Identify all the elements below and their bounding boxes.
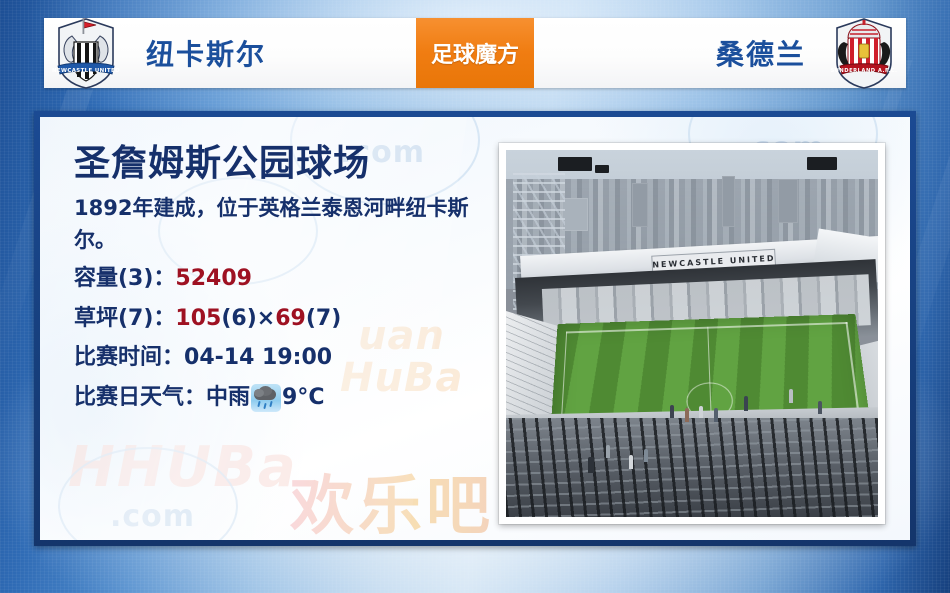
photo-spectator xyxy=(818,401,822,414)
pitch-multiply-sign: × xyxy=(257,306,275,331)
pitch-label: 草坪(7)： xyxy=(74,306,175,331)
weather-condition: 中雨 xyxy=(206,380,250,416)
stadium-description: 1892年建成，位于英格兰泰恩河畔纽卡斯尔。 xyxy=(74,193,479,257)
photo-spectator xyxy=(644,449,648,462)
pitch-length-rank: (6) xyxy=(221,306,256,331)
photo-city-building xyxy=(778,179,798,223)
photo-spectator xyxy=(685,408,689,422)
stadium-title: 圣詹姆斯公园球场 xyxy=(74,143,494,184)
photo-spectator xyxy=(606,445,610,458)
match-time-row: 比赛时间：04-14 19:00 xyxy=(74,340,494,376)
capacity-row: 容量(3)：52409 xyxy=(74,261,494,297)
stadium-photo-frame[interactable]: NEWCASTLE UNITED xyxy=(499,143,885,524)
photo-spectator xyxy=(714,408,718,422)
site-logo-text: 足球魔方 xyxy=(431,37,519,69)
away-team-name: 桑德兰 xyxy=(716,33,806,73)
moderate-rain-icon xyxy=(251,384,281,412)
home-team-block[interactable]: NEWCASTLE UNITED 纽卡斯尔 xyxy=(44,18,416,88)
match-time-value: 04-14 19:00 xyxy=(184,345,332,370)
stadium-info-panel: .com .com HHUBa .com uan HuBa 欢乐吧 圣詹姆斯公园… xyxy=(34,111,916,546)
svg-text:SUNDERLAND A.F.C.: SUNDERLAND A.F.C. xyxy=(830,68,897,74)
photo-foreground-seats xyxy=(506,418,878,517)
pitch-length-value: 105 xyxy=(175,306,221,331)
photo-spectator xyxy=(744,396,748,411)
capacity-label: 容量(3)： xyxy=(74,266,175,291)
photo-floodlight xyxy=(558,157,592,171)
newcastle-united-crest-icon: NEWCASTLE UNITED xyxy=(50,16,122,90)
photo-spectator xyxy=(629,455,633,469)
watermark-dotcom-bottom: .com xyxy=(110,499,195,534)
match-header-bar: NEWCASTLE UNITED 纽卡斯尔 足球魔方 桑德兰 xyxy=(44,18,906,88)
photo-floodlight xyxy=(807,157,837,170)
watermark-happy-text: 欢乐吧 xyxy=(290,455,494,540)
sunderland-afc-crest-icon: SUNDERLAND A.F.C. xyxy=(828,16,900,90)
match-weather-row: 比赛日天气：中雨 9°C xyxy=(74,380,494,416)
photo-spectator xyxy=(670,405,674,418)
photo-floodlight xyxy=(595,165,609,173)
photo-spectator xyxy=(789,389,793,403)
match-time-label: 比赛时间： xyxy=(74,345,184,370)
photo-spectator xyxy=(588,457,594,473)
weather-label: 比赛日天气： xyxy=(74,380,206,416)
svg-text:NEWCASTLE UNITED: NEWCASTLE UNITED xyxy=(52,68,120,74)
photo-spectator xyxy=(699,406,703,418)
st-james-park-stadium-photo: NEWCASTLE UNITED xyxy=(506,150,878,517)
weather-temperature: 9°C xyxy=(282,380,324,416)
photo-city-building xyxy=(562,198,588,231)
stadium-info-column: 圣詹姆斯公园球场 1892年建成，位于英格兰泰恩河畔纽卡斯尔。 容量(3)：52… xyxy=(74,143,494,416)
pitch-size-row: 草坪(7)：105(6)×69(7) xyxy=(74,301,494,337)
capacity-value: 52409 xyxy=(175,266,252,291)
photo-city-building xyxy=(632,183,648,227)
site-logo[interactable]: 足球魔方 xyxy=(416,18,534,88)
watermark-cloud xyxy=(58,447,238,540)
pitch-width-value: 69 xyxy=(275,306,306,331)
stadium-info-panel-inner: .com .com HHUBa .com uan HuBa 欢乐吧 圣詹姆斯公园… xyxy=(40,117,910,540)
watermark-brand-left: HHUBa xyxy=(68,435,298,500)
home-team-name: 纽卡斯尔 xyxy=(146,33,266,73)
pitch-width-rank: (7) xyxy=(306,306,341,331)
photo-city-building xyxy=(722,176,735,227)
away-team-block[interactable]: 桑德兰 SUNDERLAND A.F.C. xyxy=(534,18,906,88)
